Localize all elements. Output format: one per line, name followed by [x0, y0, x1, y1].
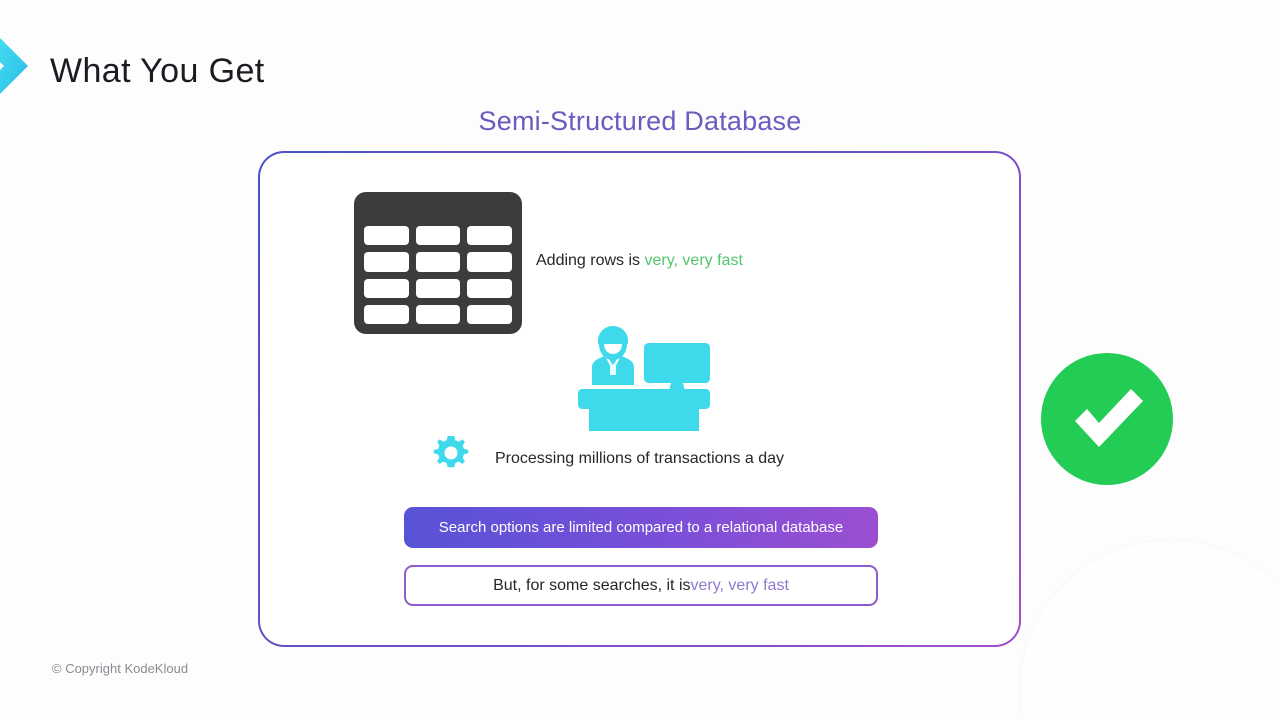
table-icon-cell	[364, 252, 409, 271]
copyright-footer: © Copyright KodeKloud	[52, 661, 188, 676]
some-searches-box: But, for some searches, it is very, very…	[404, 565, 878, 606]
table-icon-cell	[364, 226, 409, 245]
content-panel: Adding rows is very, very fast	[258, 151, 1021, 647]
table-icon-cell	[416, 226, 461, 245]
table-icon-cell	[416, 305, 461, 324]
some-searches-accent: very, very fast	[691, 577, 789, 595]
slide-root: What You Get Semi-Structured Database	[0, 0, 1280, 720]
table-icon-cell	[416, 252, 461, 271]
table-icon-cell	[467, 252, 512, 271]
page-title: What You Get	[50, 52, 265, 91]
adding-rows-lead: Adding rows is	[536, 252, 645, 269]
table-icon-cell	[467, 305, 512, 324]
table-grid-icon	[354, 192, 522, 334]
table-icon-cell	[364, 305, 409, 324]
table-icon-cell	[364, 279, 409, 298]
search-limitation-button[interactable]: Search options are limited compared to a…	[404, 507, 878, 548]
table-icon-row	[364, 305, 512, 324]
gear-icon	[432, 434, 470, 472]
table-icon-row	[364, 252, 512, 271]
processing-transactions-text: Processing millions of transactions a da…	[495, 450, 784, 468]
green-check-circle-icon	[1041, 353, 1173, 485]
chevron-right-icon	[0, 28, 42, 106]
table-icon-row	[364, 226, 512, 245]
some-searches-lead: But, for some searches, it is	[493, 577, 690, 595]
adding-rows-text: Adding rows is very, very fast	[536, 252, 743, 270]
background-circle-decoration	[1020, 540, 1280, 720]
adding-rows-accent: very, very fast	[645, 252, 743, 269]
table-icon-row	[364, 279, 512, 298]
section-subtitle: Semi-Structured Database	[0, 106, 1280, 137]
content-panel-inner: Adding rows is very, very fast	[260, 153, 1019, 645]
table-icon-cell	[467, 226, 512, 245]
person-at-desk-icon	[575, 323, 713, 433]
table-icon-cell	[467, 279, 512, 298]
table-icon-cell	[416, 279, 461, 298]
